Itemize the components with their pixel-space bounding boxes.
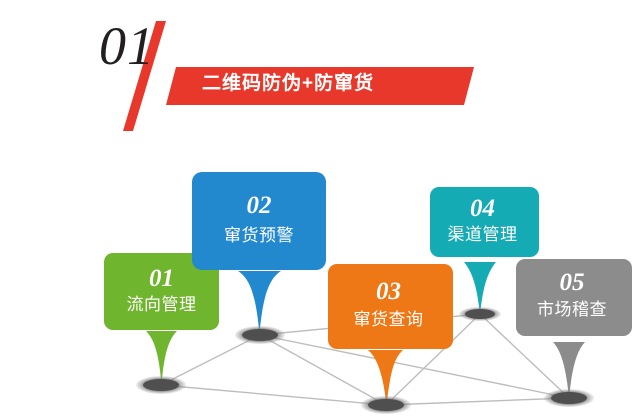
pin-base xyxy=(551,392,587,404)
pin-base xyxy=(242,329,278,341)
pin-base xyxy=(143,379,179,391)
pin-network-diagram: 01 流向管理 02 窜货预警 03 窜货查询 xyxy=(0,0,643,417)
pin-base-markers xyxy=(0,0,643,417)
pin-base xyxy=(465,309,495,319)
slide-canvas: 01 二维码防伪+防窜货 01 流向管理 xyxy=(0,0,643,417)
pin-base xyxy=(368,399,404,411)
